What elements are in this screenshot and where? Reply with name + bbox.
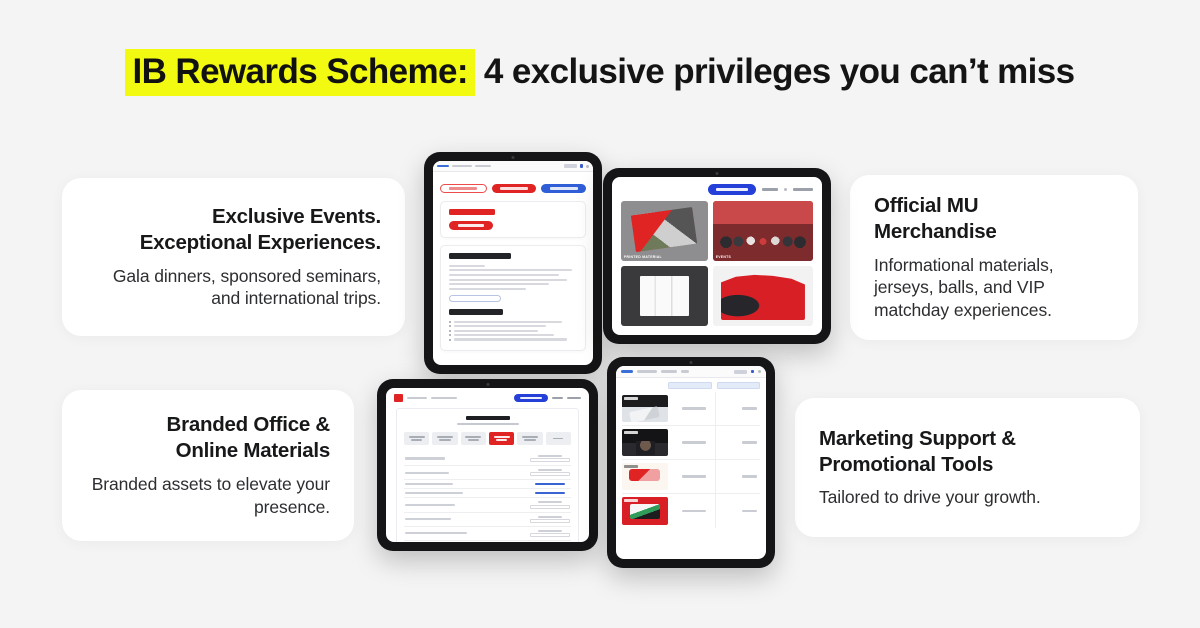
tile-caption: PRINTED MATERIAL — [624, 255, 662, 259]
menu-icon[interactable] — [758, 370, 761, 373]
breadcrumb-home[interactable] — [621, 370, 633, 373]
card-title: Official MU Merchandise — [874, 193, 1114, 245]
tablet-screen — [616, 366, 766, 559]
card-title: Branded Office & Online Materials — [86, 412, 330, 464]
logout-link[interactable] — [552, 397, 563, 400]
nav-item[interactable] — [407, 397, 427, 400]
table-row[interactable] — [404, 527, 571, 541]
merchandise-toolbar — [612, 177, 822, 201]
headline-rest: 4 exclusive privileges you can’t miss — [484, 52, 1075, 91]
rewards-header — [386, 388, 589, 406]
table-row[interactable] — [404, 498, 571, 512]
rewards-table-title — [466, 416, 510, 420]
card-official-mu-merchandise: Official MU Merchandise Informational ma… — [850, 175, 1138, 340]
open-live-account-button[interactable] — [492, 184, 537, 193]
card-title-line1: Marketing Support & — [819, 427, 1016, 450]
cell-dimension — [673, 426, 715, 459]
card-exclusive-events: Exclusive Events. Exceptional Experience… — [62, 178, 405, 336]
tile-caption: EVENTS — [716, 255, 731, 259]
visit-portal-button[interactable] — [449, 221, 493, 230]
gallery-tile-leaflets[interactable] — [621, 266, 708, 326]
tablet-screen: PRINTED MATERIAL EVENTS — [612, 177, 822, 335]
table-row[interactable] — [622, 426, 760, 460]
tab-office-branding[interactable] — [404, 432, 429, 445]
table-row[interactable] — [404, 466, 571, 480]
make-a-request-button[interactable] — [514, 394, 548, 402]
gallery-tile-printed-material[interactable]: PRINTED MATERIAL — [621, 201, 708, 261]
breadcrumb-item[interactable] — [661, 370, 677, 373]
review-terms-link[interactable] — [449, 295, 501, 302]
body-line — [449, 279, 567, 281]
breadcrumb — [433, 161, 593, 172]
tab-events[interactable] — [546, 432, 571, 445]
notifications-icon[interactable] — [580, 164, 584, 168]
card-body: Branded assets to elevate your presence. — [86, 473, 330, 519]
body-line — [449, 265, 485, 267]
camera-icon — [716, 172, 719, 175]
list-item — [449, 338, 577, 340]
cell-dimension — [673, 392, 715, 425]
card-marketing-support-promotional-tools: Marketing Support & Promotional Tools Ta… — [795, 398, 1140, 537]
menu-icon[interactable] — [586, 165, 589, 168]
table-row[interactable] — [404, 480, 571, 489]
rewards-table-sheet — [396, 408, 579, 542]
merchandise-gallery-grid: PRINTED MATERIAL EVENTS — [612, 201, 822, 335]
breadcrumb-home[interactable] — [437, 165, 449, 168]
card-title: Marketing Support & Promotional Tools — [819, 426, 1116, 478]
deposit-funds-button[interactable] — [541, 184, 586, 193]
body-line — [449, 274, 559, 276]
about-section-title — [449, 253, 511, 259]
language-selector[interactable] — [567, 397, 581, 400]
breadcrumb — [616, 366, 766, 378]
card-branded-office-online-materials: Branded Office & Online Materials Brande… — [62, 390, 354, 541]
card-title: Exclusive Events. Exceptional Experience… — [86, 204, 381, 256]
tab-office-materials[interactable] — [489, 432, 514, 445]
cell-language — [715, 494, 760, 528]
card-title-line2: Online Materials — [176, 439, 330, 462]
nav-item[interactable] — [431, 397, 457, 400]
card-title-line2: Promotional Tools — [819, 453, 993, 476]
card-title-line1: Official MU — [874, 194, 978, 217]
page-title: IB Rewards Scheme:4 exclusive privileges… — [0, 52, 1200, 92]
table-column-headers — [616, 378, 766, 392]
gallery-tile-events[interactable]: EVENTS — [713, 201, 813, 261]
category-tabs — [404, 432, 571, 445]
list-item — [449, 325, 577, 327]
column-header-language — [717, 382, 761, 389]
ib-scheme-panel-title — [449, 209, 495, 215]
table-row[interactable] — [404, 541, 571, 542]
headline-highlight: IB Rewards Scheme: — [125, 49, 474, 96]
body-line — [449, 269, 572, 271]
cell-dimension — [673, 460, 715, 493]
promo-banner: IB Rewards Scheme:4 exclusive privileges… — [0, 0, 1200, 628]
table-row[interactable] — [404, 489, 571, 498]
tablet-mockup-rewards-table — [377, 379, 598, 551]
account-actions-row — [440, 184, 586, 193]
breadcrumb-item[interactable] — [475, 165, 491, 168]
tab-promotional-items[interactable] — [517, 432, 542, 445]
table-row[interactable] — [404, 452, 571, 466]
about-ib-scheme-panel — [440, 245, 586, 351]
card-body: Informational materials, jerseys, balls,… — [874, 254, 1114, 322]
gallery-tile-jerseys-balls[interactable] — [713, 266, 813, 326]
body-line — [449, 283, 549, 285]
brand-logo — [394, 394, 403, 402]
tablet-mockup-banner-assets — [607, 357, 775, 568]
breadcrumb-item[interactable] — [681, 370, 689, 373]
breadcrumb-item[interactable] — [637, 370, 657, 373]
camera-icon — [486, 383, 489, 386]
table-row[interactable] — [622, 460, 760, 494]
language-selector[interactable] — [734, 370, 747, 374]
banner-thumbnail[interactable] — [622, 463, 668, 490]
language-selector[interactable] — [793, 188, 813, 191]
language-selector[interactable] — [564, 164, 577, 168]
cell-language — [715, 426, 760, 459]
banner-thumbnail[interactable] — [622, 497, 668, 525]
tablet-mockup-ib-scheme — [424, 152, 602, 374]
tab-gift-items[interactable] — [461, 432, 486, 445]
breadcrumb-item[interactable] — [452, 165, 472, 168]
banner-thumbnail[interactable] — [622, 395, 668, 422]
page-body — [433, 172, 593, 364]
tablet-screen — [433, 161, 593, 365]
tablet-mockup-merchandise: PRINTED MATERIAL EVENTS — [603, 168, 831, 344]
logout-link[interactable] — [762, 188, 778, 191]
cell-language — [715, 460, 760, 493]
banner-thumbnail[interactable] — [622, 429, 668, 456]
cell-language — [715, 392, 760, 425]
list-item — [449, 334, 577, 336]
open-demo-account-button[interactable] — [440, 184, 487, 193]
table-row[interactable] — [622, 494, 760, 528]
cell-dimension — [673, 494, 715, 528]
card-title-line1: Exclusive Events. — [212, 205, 381, 228]
table-row[interactable] — [622, 392, 760, 426]
tablet-screen — [386, 388, 589, 542]
important-information-title — [449, 309, 503, 315]
banner-asset-rows — [616, 392, 766, 528]
list-item — [449, 330, 577, 332]
card-title-line1: Branded Office & — [167, 413, 330, 436]
column-header-dimension — [668, 382, 712, 389]
camera-icon — [512, 156, 515, 159]
table-row[interactable] — [404, 513, 571, 527]
tab-online-materials[interactable] — [432, 432, 457, 445]
card-body: Tailored to drive your growth. — [819, 486, 1116, 509]
notifications-icon[interactable] — [751, 370, 755, 374]
card-body: Gala dinners, sponsored seminars, and in… — [86, 265, 381, 311]
ib-scheme-panel — [440, 201, 586, 238]
card-title-line2: Merchandise — [874, 220, 997, 243]
list-item — [449, 321, 577, 323]
rewards-table-subtitle — [457, 423, 519, 425]
globe-icon — [784, 188, 787, 191]
make-a-request-button[interactable] — [708, 184, 756, 195]
body-line — [449, 288, 526, 290]
camera-icon — [690, 361, 693, 364]
card-title-line2: Exceptional Experiences. — [140, 231, 381, 254]
